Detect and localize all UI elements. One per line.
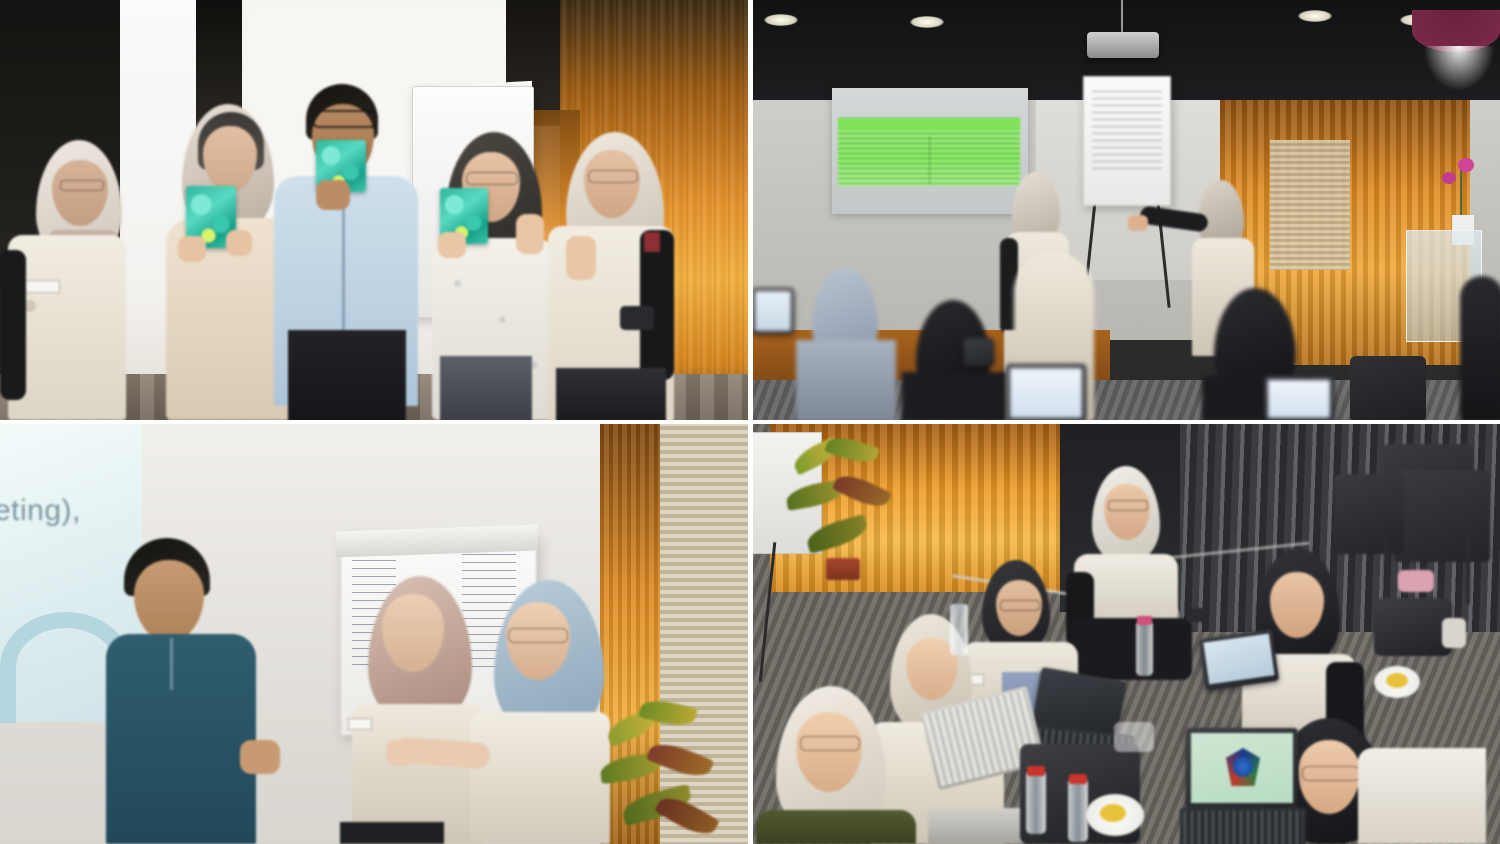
hand-holding-certificate <box>240 740 280 774</box>
hand-left <box>438 232 466 258</box>
chair-leg <box>1466 534 1470 604</box>
shoulder-badge <box>644 232 660 252</box>
backpack <box>1374 598 1452 656</box>
drink-bottle <box>1136 622 1153 676</box>
flipchart-handwriting <box>1092 91 1162 169</box>
slide-column-divider <box>929 136 930 184</box>
leaf <box>646 737 714 783</box>
pendant-lamp-glow <box>1424 46 1494 90</box>
flip-chart <box>1083 76 1171 206</box>
hand-pointing <box>1128 215 1148 231</box>
drink-bottle <box>1026 772 1046 834</box>
sleeve-dark <box>0 250 26 400</box>
hand-pointing <box>516 214 544 254</box>
seated-person-edge <box>1460 276 1500 422</box>
downlight-icon <box>764 14 798 26</box>
certificate-handover-scene: eting), <box>0 422 750 844</box>
laptop-screen <box>755 291 791 331</box>
orchid-flower <box>1442 172 1456 184</box>
eyeglasses <box>312 110 378 128</box>
olive-dress <box>756 810 916 844</box>
downlight-icon <box>910 16 944 28</box>
emblem-core <box>1233 757 1253 777</box>
smartphone <box>1186 608 1208 622</box>
laptop-screen <box>1268 380 1330 418</box>
hand <box>316 180 350 210</box>
laptop-screen <box>1010 368 1082 418</box>
drink-bottle <box>950 604 968 656</box>
shoulders <box>902 372 1006 422</box>
presentation-session-scene <box>750 0 1500 422</box>
chair-leg <box>1384 538 1388 604</box>
laptop-base <box>1180 808 1306 844</box>
collage-divider-horizontal <box>0 420 1500 424</box>
crossed-legs <box>1072 618 1192 680</box>
hand-right <box>226 230 252 256</box>
sleeve-dark <box>640 230 674 380</box>
snack-food <box>1100 804 1126 822</box>
eyeglasses <box>1108 500 1148 511</box>
vest-name-patch <box>20 280 60 293</box>
photo-collage: eting), <box>0 0 1500 844</box>
eyeglasses <box>60 180 104 191</box>
ceiling-projector <box>1087 32 1159 58</box>
eyeglasses <box>800 736 860 751</box>
stacked-chair <box>1334 474 1404 554</box>
vest-name-patch <box>348 718 372 730</box>
hand-holding-certificate <box>386 740 414 766</box>
eyeglasses <box>1302 766 1360 781</box>
group-working-on-floor-scene <box>750 422 1500 844</box>
hand-pointing <box>566 236 596 280</box>
collage-panel-top-right <box>750 0 1500 422</box>
projector-mount-rod <box>1121 0 1123 34</box>
group-photo-with-product-scene <box>0 0 750 422</box>
bottle-cap <box>1069 774 1087 784</box>
window-blinds <box>1270 140 1350 270</box>
leaf <box>804 514 870 554</box>
drink-bottle <box>1068 780 1088 842</box>
croton-plant <box>596 694 736 844</box>
plant-pot <box>826 558 860 580</box>
collage-panel-top-left <box>0 0 750 422</box>
belt-pouch <box>620 306 654 330</box>
eyeglasses <box>1000 600 1040 611</box>
hand-left <box>178 236 206 262</box>
laptop-base <box>928 808 1024 844</box>
white-vest <box>470 712 610 844</box>
eyeglasses <box>508 628 568 643</box>
trousers <box>440 356 532 422</box>
slide-header-row <box>838 118 1020 130</box>
polo-shirt <box>106 634 256 844</box>
laptop-keyboard[interactable] <box>1183 811 1303 844</box>
snack-food <box>1386 673 1408 688</box>
collage-panel-bottom-right <box>750 422 1500 844</box>
screen-text-fragment: eting), <box>0 494 81 528</box>
shoulders <box>796 340 896 422</box>
trousers <box>288 330 406 422</box>
chair <box>1350 356 1426 422</box>
bottle-cap <box>1137 616 1152 625</box>
croton-plant <box>786 440 896 580</box>
pink-pouch <box>1398 570 1434 592</box>
downlight-icon <box>1298 10 1332 22</box>
patterned-blouse <box>1358 748 1486 844</box>
snack-wrapper <box>1114 722 1154 752</box>
eyeglasses <box>588 170 638 183</box>
shoe <box>1442 618 1466 648</box>
leaf <box>832 469 892 513</box>
skirt <box>340 822 444 844</box>
laptop-lid <box>964 338 994 366</box>
polo-placket <box>170 638 173 690</box>
orchid-flower <box>1458 158 1474 172</box>
bottle-cap <box>1027 766 1045 776</box>
collage-panel-bottom-left: eting), <box>0 422 750 844</box>
stacked-chair <box>1394 470 1490 562</box>
eyeglasses <box>466 172 518 185</box>
skirt <box>556 368 666 422</box>
